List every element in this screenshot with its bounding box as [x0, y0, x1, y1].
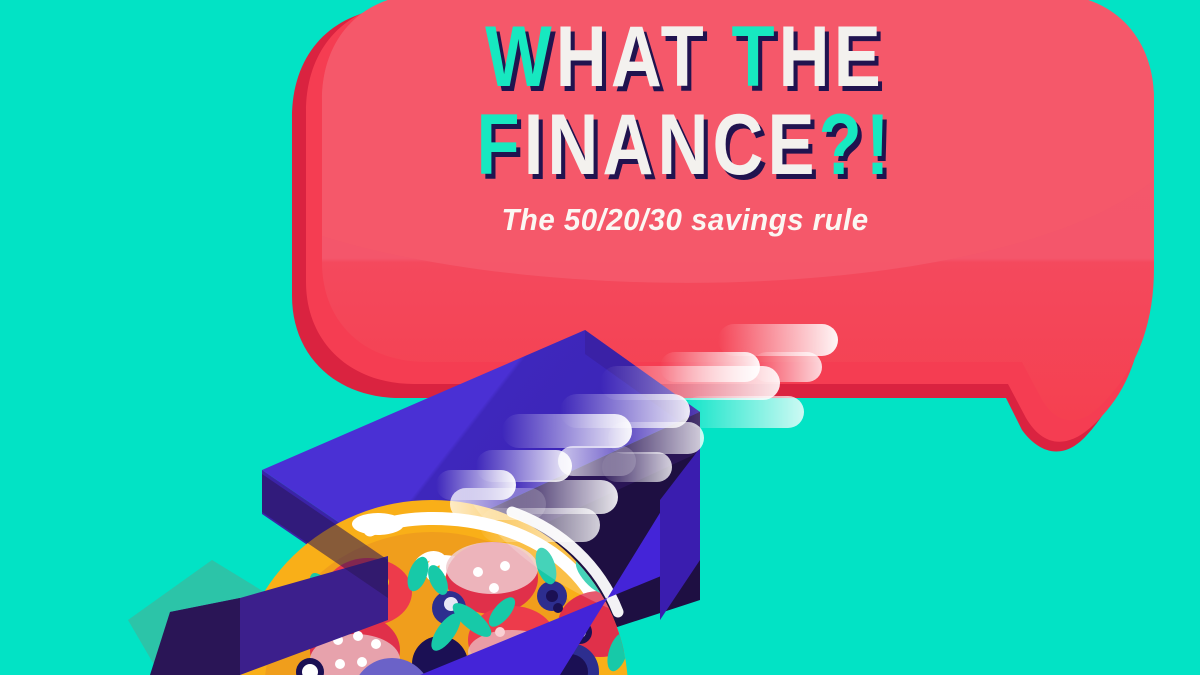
steam-blob-15	[436, 470, 516, 500]
steam-blob-5	[684, 396, 804, 428]
steam-layer	[0, 0, 1200, 675]
poster-canvas: WHAT THE FINANCE?! The 50/20/30 savings …	[0, 0, 1200, 675]
steam-blob-14	[480, 508, 600, 542]
steam-blob-11	[602, 452, 672, 482]
steam-blob-1	[718, 324, 838, 356]
steam-blobs	[436, 324, 838, 542]
